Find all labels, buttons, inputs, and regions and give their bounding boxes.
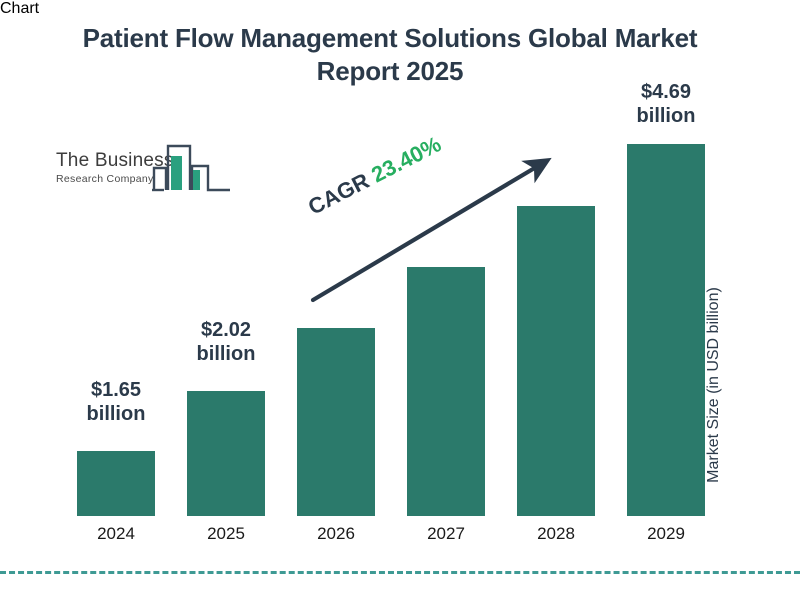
bar-2024 [77,451,155,516]
bar-2027 [407,267,485,516]
x-tick-2027: 2027 [391,524,501,544]
x-tick-2028: 2028 [501,524,611,544]
footer-divider [0,571,800,574]
bar-value-amount-2025: $2.02 [171,318,281,342]
bar-value-label-2025: $2.02 billion [171,318,281,367]
y-axis-title-text: Market Size (in USD billion) [705,250,723,520]
x-tick-2026: 2026 [281,524,391,544]
x-tick-2029: 2029 [611,524,721,544]
cagr-label: CAGR [304,168,373,220]
x-tick-2024: 2024 [61,524,171,544]
bar-2028 [517,206,595,516]
bar-value-amount-2024: $1.65 [61,378,171,402]
bar-value-label-2024: $1.65 billion [61,378,171,427]
x-tick-2025: 2025 [171,524,281,544]
bar-2029 [627,144,705,516]
cagr-annotation: CAGR 23.40% [304,131,445,220]
y-axis-title: Market Size (in USD billion) [705,0,723,250]
bar-value-unit-2025: billion [171,342,281,366]
chart-container: Patient Flow Management Solutions Global… [0,0,800,600]
cagr-value: 23.40% [367,131,445,187]
bar-value-unit-2024: billion [61,402,171,426]
plot-area: $1.65 billion $2.02 billion $4.69 billio… [0,0,800,600]
bar-2025 [187,391,265,516]
bar-2026 [297,328,375,516]
